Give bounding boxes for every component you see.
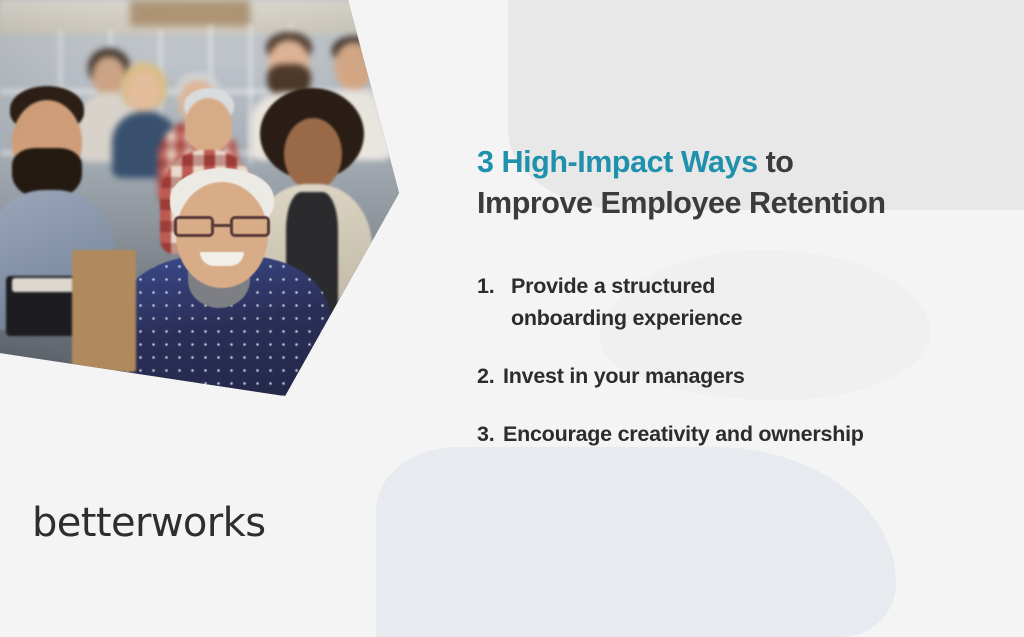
betterworks-logo: betterworks bbox=[32, 500, 265, 546]
page-title-line-two: Improve Employee Retention bbox=[477, 186, 886, 220]
list-item-number: 3. bbox=[477, 418, 503, 450]
list-item-label: Encourage creativity and ownership bbox=[503, 418, 987, 450]
list-item: 3. Encourage creativity and ownership bbox=[477, 418, 987, 450]
list-item-number: 2. bbox=[477, 360, 503, 392]
list-item-label: Provide a structured onboarding experien… bbox=[511, 270, 811, 334]
list-item-label: Invest in your managers bbox=[503, 360, 987, 392]
page-title-accent: 3 High-Impact Ways bbox=[477, 145, 758, 179]
page-title: 3 High-Impact Ways to Improve Employee R… bbox=[477, 142, 977, 224]
retention-tips-list: 1. Provide a structured onboarding exper… bbox=[477, 270, 987, 450]
content-area: 3 High-Impact Ways to Improve Employee R… bbox=[0, 0, 1024, 580]
list-item: 1. Provide a structured onboarding exper… bbox=[477, 270, 987, 334]
list-item-number: 1. bbox=[477, 270, 511, 302]
list-item: 2. Invest in your managers bbox=[477, 360, 987, 392]
page-title-rest: to bbox=[758, 145, 794, 179]
